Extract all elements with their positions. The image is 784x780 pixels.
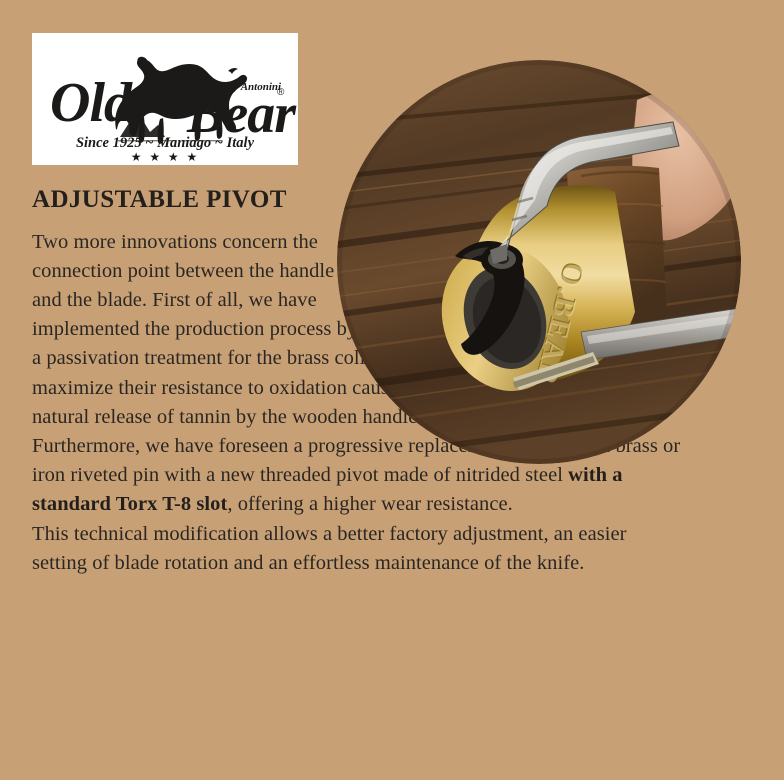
old-bear-logo-icon: Old Bear by Antonini ® Since 1925 ~ Mani… (32, 33, 298, 165)
brand-logo-card: Old Bear by Antonini ® Since 1925 ~ Mani… (32, 33, 298, 165)
logo-tagline: Since 1925 ~ Maniago ~ Italy (76, 135, 255, 151)
article-paragraph-3: This technical modification allows a bet… (32, 523, 627, 574)
pivot-closeup-illustration: O.BEAR O.BEAR (337, 60, 741, 464)
article-paragraph-2-tail: , offering a higher wear resistance. (227, 493, 512, 515)
product-photo: O.BEAR O.BEAR (337, 60, 741, 464)
brand-logo: Old Bear by Antonini ® Since 1925 ~ Mani… (32, 33, 298, 165)
registered-trademark-icon: ® (277, 87, 285, 98)
page-root: Old Bear by Antonini ® Since 1925 ~ Mani… (0, 0, 784, 780)
logo-stars-icon: ★ ★ ★ ★ (131, 150, 199, 164)
logo-byline: by Antonini (228, 81, 282, 93)
logo-word-old: Old (50, 72, 133, 134)
